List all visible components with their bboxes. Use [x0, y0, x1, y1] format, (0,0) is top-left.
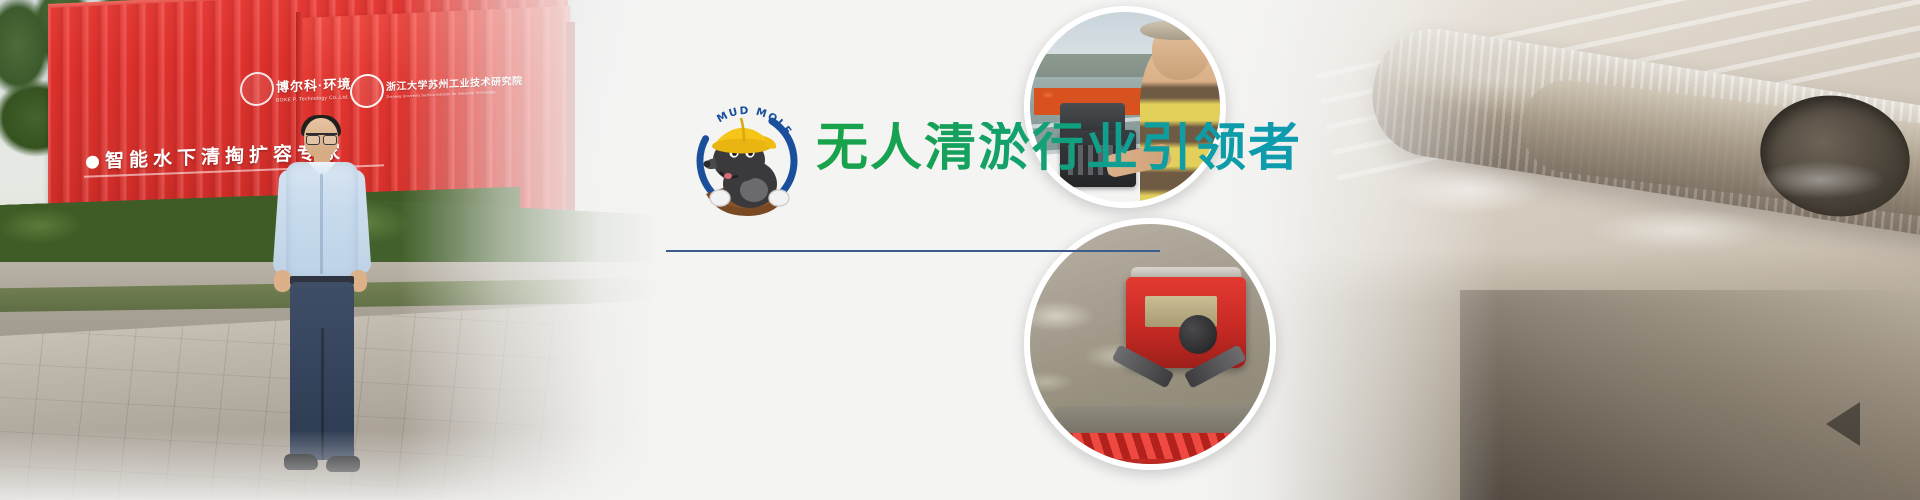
right-photo	[1200, 0, 1920, 500]
headline-divider	[666, 250, 1160, 252]
slogan-bullet-icon	[86, 155, 99, 168]
person-left-hand	[274, 270, 291, 292]
left-photo: 博尔科·环境 BOKE P. Technology Co.,Ltd. 浙江大学苏…	[0, 0, 660, 500]
center-content: MUD MOLE 无人清淤行业引领者	[660, 0, 1260, 500]
hero-banner: 博尔科·环境 BOKE P. Technology Co.,Ltd. 浙江大学苏…	[0, 0, 1920, 500]
person-shirt-placket	[320, 174, 323, 274]
left-photo-right-fade	[400, 0, 660, 500]
logo-glove-left	[710, 190, 730, 206]
play-arrow-icon	[1826, 402, 1860, 446]
right-photo-shadow-overlay	[1460, 290, 1920, 500]
mud-mole-logo: MUD MOLE	[684, 98, 810, 224]
headline: 无人清淤行业引领者	[816, 122, 1302, 174]
glasses-icon	[306, 133, 337, 143]
logo-glove-right	[769, 190, 789, 206]
container-brand-primary: 博尔科·环境 BOKE P. Technology Co.,Ltd.	[276, 73, 351, 103]
container-brand-primary-name: 博尔科·环境	[276, 76, 351, 94]
